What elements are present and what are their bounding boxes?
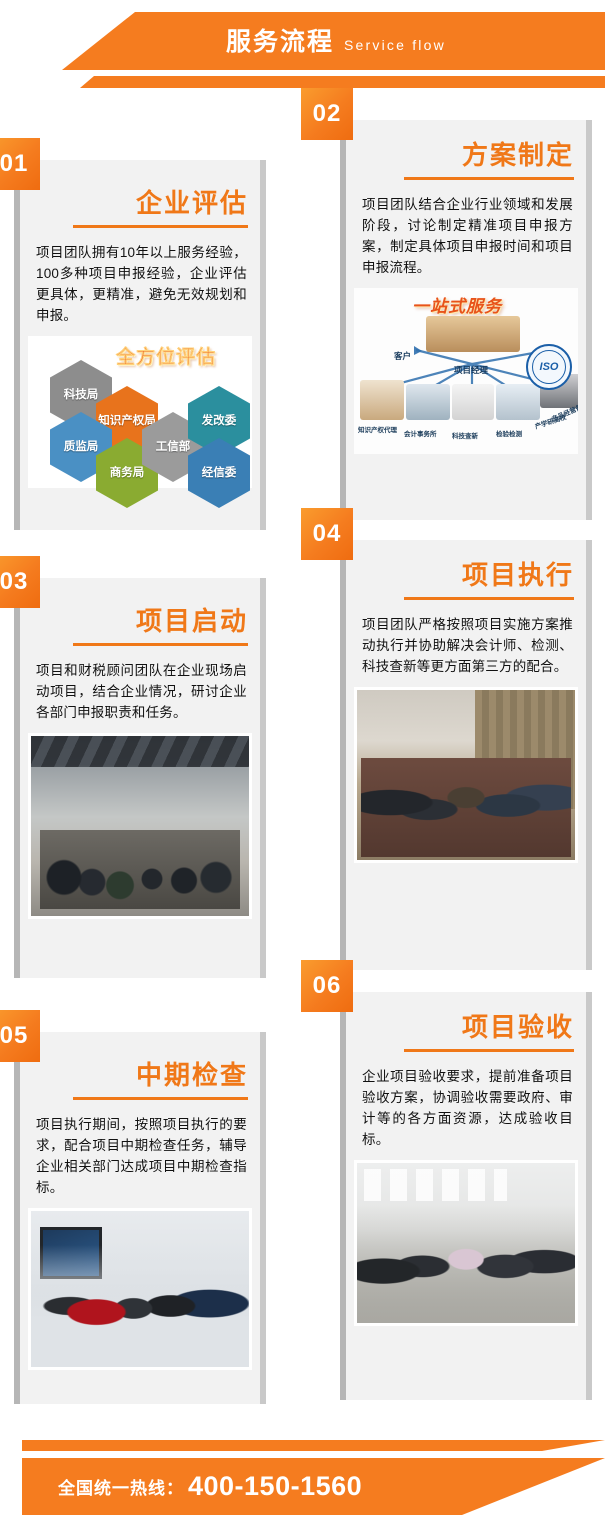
- photo-lobby-visit: [31, 1211, 249, 1367]
- step-title-01: 企业评估: [20, 186, 260, 220]
- one-stop-node-label-1: 知识产权代理: [358, 424, 397, 434]
- step-number-badge-01: 01: [0, 138, 40, 190]
- step-photo-frame-06: [354, 1160, 578, 1326]
- infographic-page: 服务流程 Service flow 01 企业评估 项目团队拥有10年以上服务经…: [0, 0, 605, 1538]
- step-title-05: 中期检查: [20, 1058, 260, 1092]
- step-card-06[interactable]: 06 项目验收 企业项目验收要求，提前准备项目验收方案，协调验收需要政府、审计等…: [340, 992, 592, 1400]
- step-body-06: 企业项目验收要求，提前准备项目验收方案，协调验收需要政府、审计等的各方面资源，达…: [346, 1052, 586, 1160]
- step-title-06: 项目验收: [346, 1010, 586, 1044]
- one-stop-node-label-2: 会计事务所: [404, 428, 437, 438]
- step-number-badge-06: 06: [301, 960, 353, 1012]
- iso-seal-label: ISO: [540, 361, 559, 373]
- step-body-03: 项目和财税顾问团队在企业现场启动项目，结合企业情况，研讨企业各部门申报职责和任务…: [20, 646, 260, 733]
- step-number-badge-03: 03: [0, 556, 40, 608]
- step-body-05: 项目执行期间，按照项目执行的要求，配合项目中期检查任务，辅导企业相关部门达成项目…: [20, 1100, 260, 1208]
- hex-diagram-title: 全方位评估: [116, 342, 216, 369]
- step-title-02: 方案制定: [346, 138, 586, 172]
- step-card-03[interactable]: 03 项目启动 项目和财税顾问团队在企业现场启动项目，结合企业情况，研讨企业各部…: [14, 578, 266, 978]
- header-accent-stripe: [0, 76, 605, 88]
- photo-meeting-table: [357, 690, 575, 860]
- page-title: 服务流程: [226, 22, 334, 62]
- photo-award-hall: [357, 1163, 575, 1323]
- iso-seal-icon: ISO: [526, 344, 572, 390]
- footer-accent-stripe: [22, 1440, 605, 1451]
- step-card-05[interactable]: 05 中期检查 项目执行期间，按照项目执行的要求，配合项目中期检查任务，辅导企业…: [14, 1032, 266, 1404]
- one-stop-node-3: [452, 384, 494, 420]
- step-title-04: 项目执行: [346, 558, 586, 592]
- page-footer: 全国统一热线： 400-150-1560: [0, 1428, 605, 1538]
- step-photo-frame-03: [28, 733, 252, 919]
- hotline-number[interactable]: 400-150-1560: [188, 1471, 362, 1502]
- step-body-01: 项目团队拥有10年以上服务经验，100多种项目申报经验，企业评估更具体，更精准，…: [20, 228, 260, 336]
- page-subtitle: Service flow: [344, 25, 446, 65]
- one-stop-node-label-4: 检验检测: [496, 428, 522, 438]
- hex-diagram: 全方位评估 科技局 知识产权局 质监局 商务局 工信部 发改委 经信委: [28, 336, 252, 488]
- step-body-04: 项目团队严格按照项目实施方案推动执行并协助解决会计师、检测、科技查新等更方面第三…: [346, 600, 586, 687]
- step-card-04[interactable]: 04 项目执行 项目团队严格按照项目实施方案推动执行并协助解决会计师、检测、科技…: [340, 540, 592, 970]
- one-stop-hub-photo: [426, 316, 520, 352]
- step-card-01[interactable]: 01 企业评估 项目团队拥有10年以上服务经验，100多种项目申报经验，企业评估…: [14, 160, 266, 530]
- one-stop-node-4: [496, 384, 540, 420]
- one-stop-node-2: [406, 384, 450, 420]
- step-body-02: 项目团队结合企业行业领域和发展阶段，讨论制定精准项目申报方案，制定具体项目申报时…: [346, 180, 586, 288]
- step-title-03: 项目启动: [20, 604, 260, 638]
- step-card-02[interactable]: 02 方案制定 项目团队结合企业行业领域和发展阶段，讨论制定精准项目申报方案，制…: [340, 120, 592, 520]
- one-stop-label-customer: 客户: [394, 350, 411, 362]
- header-title-group: 服务流程 Service flow: [226, 22, 446, 62]
- step-number-badge-04: 04: [301, 508, 353, 560]
- step-number-badge-02: 02: [301, 88, 353, 140]
- photo-conference-room: [31, 736, 249, 916]
- one-stop-service-diagram: 一站式服务 客户 项: [354, 288, 578, 454]
- one-stop-label-manager: 项目经理: [454, 364, 488, 376]
- hotline-group: 全国统一热线： 400-150-1560: [58, 1458, 362, 1515]
- step-number-badge-05: 05: [0, 1010, 40, 1062]
- step-photo-frame-04: [354, 687, 578, 863]
- one-stop-node-1: [360, 380, 404, 420]
- step-photo-frame-05: [28, 1208, 252, 1370]
- hotline-label: 全国统一热线：: [58, 1474, 184, 1499]
- one-stop-node-label-3: 科技查新: [452, 430, 478, 440]
